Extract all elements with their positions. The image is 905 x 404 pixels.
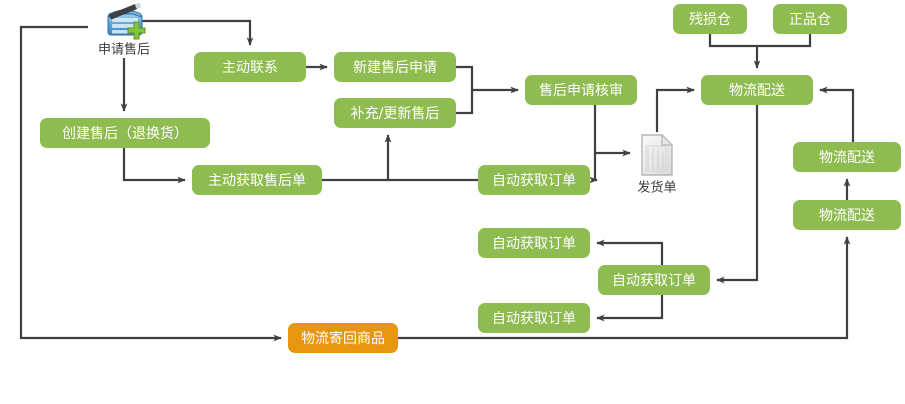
delivery-note-label: 发货单 xyxy=(637,180,676,196)
delivery-note-node[interactable]: 发货单 xyxy=(637,135,676,196)
node-logistics-delivery-2-label: 物流配送 xyxy=(819,150,875,166)
node-fetch-aftersale-order-label: 主动获取售后单 xyxy=(208,173,306,189)
ticket-add-icon xyxy=(108,2,145,39)
node-logistics-delivery-2[interactable]: 物流配送 xyxy=(793,142,901,172)
edge-damaged-warehouse-down xyxy=(710,34,757,46)
edge-auto-3-to-auto-4 xyxy=(597,295,662,318)
node-update-aftersale[interactable]: 补充/更新售后 xyxy=(334,98,456,128)
node-return-goods-logistics-label: 物流寄回商品 xyxy=(301,330,385,347)
node-auto-fetch-order-4[interactable]: 自动获取订单 xyxy=(478,303,590,333)
apply-aftersale-node[interactable]: 申请售后 xyxy=(98,2,150,57)
node-new-aftersale-request[interactable]: 新建售后申请 xyxy=(334,52,456,82)
node-return-goods-logistics[interactable]: 物流寄回商品 xyxy=(288,323,398,353)
node-new-aftersale-request-label: 新建售后申请 xyxy=(353,60,437,76)
node-aftersale-review-label: 售后申请核审 xyxy=(539,83,623,99)
edge-icon-to-proactive-contact xyxy=(140,21,250,45)
node-auto-fetch-order-4-label: 自动获取订单 xyxy=(492,311,576,327)
node-damaged-warehouse-label: 残损仓 xyxy=(689,12,731,28)
node-create-aftersale-label: 创建售后（退换货） xyxy=(62,125,188,142)
node-create-aftersale[interactable]: 创建售后（退换货） xyxy=(40,118,210,148)
edge-review-to-auto-fetch-order-1 xyxy=(595,153,597,180)
edge-logistics-2-to-logistics-main xyxy=(820,90,853,142)
node-auto-fetch-order-2-label: 自动获取订单 xyxy=(492,236,576,252)
node-logistics-delivery-main-label: 物流配送 xyxy=(729,83,785,99)
apply-aftersale-label: 申请售后 xyxy=(98,42,150,58)
node-good-warehouse-label: 正品仓 xyxy=(789,12,831,28)
document-icon xyxy=(642,135,672,175)
node-update-aftersale-label: 补充/更新售后 xyxy=(351,106,440,122)
edge-auto-3-to-auto-2 xyxy=(597,243,662,265)
edge-review-to-delivery-note xyxy=(595,105,630,153)
node-proactive-contact[interactable]: 主动联系 xyxy=(194,52,306,82)
node-logistics-delivery-3[interactable]: 物流配送 xyxy=(793,200,901,230)
nodes-layer: 申请售后 主动联系 创建售后（退换货） 主动获取售后单 新建售后申请 补充/更新… xyxy=(40,2,901,353)
node-logistics-delivery-main[interactable]: 物流配送 xyxy=(701,75,813,105)
edge-new-request-to-merge xyxy=(456,67,472,90)
node-proactive-contact-label: 主动联系 xyxy=(222,60,278,76)
node-damaged-warehouse[interactable]: 残损仓 xyxy=(673,4,747,34)
node-auto-fetch-order-3-label: 自动获取订单 xyxy=(612,273,696,289)
node-logistics-delivery-3-label: 物流配送 xyxy=(819,208,875,224)
node-fetch-aftersale-order[interactable]: 主动获取售后单 xyxy=(192,165,322,195)
edge-logistics-main-to-auto-fetch-order-3 xyxy=(717,105,757,280)
node-aftersale-review[interactable]: 售后申请核审 xyxy=(525,75,637,105)
node-auto-fetch-order-2[interactable]: 自动获取订单 xyxy=(478,228,590,258)
edge-create-to-fetch-aftersale-order xyxy=(124,148,185,180)
edge-delivery-note-to-logistics-main xyxy=(657,90,694,132)
edge-good-warehouse-down xyxy=(757,34,810,46)
node-good-warehouse[interactable]: 正品仓 xyxy=(773,4,847,34)
node-auto-fetch-order-3[interactable]: 自动获取订单 xyxy=(598,265,710,295)
node-auto-fetch-order-1-label: 自动获取订单 xyxy=(492,173,576,189)
node-auto-fetch-order-1[interactable]: 自动获取订单 xyxy=(478,165,590,195)
flowchart-canvas: 申请售后 主动联系 创建售后（退换货） 主动获取售后单 新建售后申请 补充/更新… xyxy=(0,0,905,404)
edge-update-aftersale-to-merge xyxy=(456,90,472,113)
